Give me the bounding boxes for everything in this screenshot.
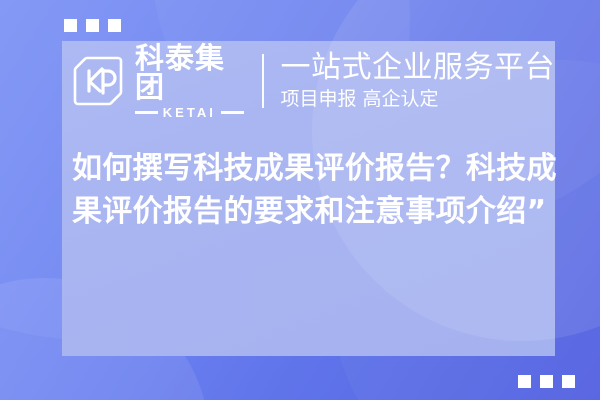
brand-name-en-row: KETAI [135, 106, 244, 119]
brand-logo: 科泰集团 KETAI [72, 44, 244, 119]
content-panel: 科泰集团 KETAI 一站式企业服务平台 项目申报 高企认定 如何撰写科技成果评… [62, 41, 555, 356]
decorative-square [562, 375, 575, 388]
banner-header: 科泰集团 KETAI 一站式企业服务平台 项目申报 高企认定 [62, 41, 555, 121]
tagline-block: 一站式企业服务平台 项目申报 高企认定 [281, 52, 556, 109]
decorative-square [64, 19, 77, 32]
ketai-kp-diamond-logo-icon [72, 55, 124, 107]
brand-name-cn: 科泰集团 [135, 44, 244, 102]
tagline-sub: 项目申报 高企认定 [281, 89, 556, 110]
promotional-banner: 科泰集团 KETAI 一站式企业服务平台 项目申报 高企认定 如何撰写科技成果评… [0, 0, 600, 400]
decorative-dots-bottom-right [518, 375, 575, 388]
banner-headline: 如何撰写科技成果评价报告？科技成果评价报告的要求和注意事项介绍” [72, 148, 572, 233]
decorative-square [540, 375, 553, 388]
tagline-main: 一站式企业服务平台 [281, 52, 556, 84]
decorative-square [108, 19, 121, 32]
header-divider [262, 54, 264, 108]
brand-wordmark: 科泰集团 KETAI [135, 44, 244, 119]
wordmark-rule-right [221, 111, 244, 114]
decorative-dots-top-left [64, 19, 121, 32]
decorative-square [86, 19, 99, 32]
wordmark-rule-left [135, 111, 158, 114]
brand-name-en: KETAI [163, 106, 216, 119]
decorative-square [518, 375, 531, 388]
